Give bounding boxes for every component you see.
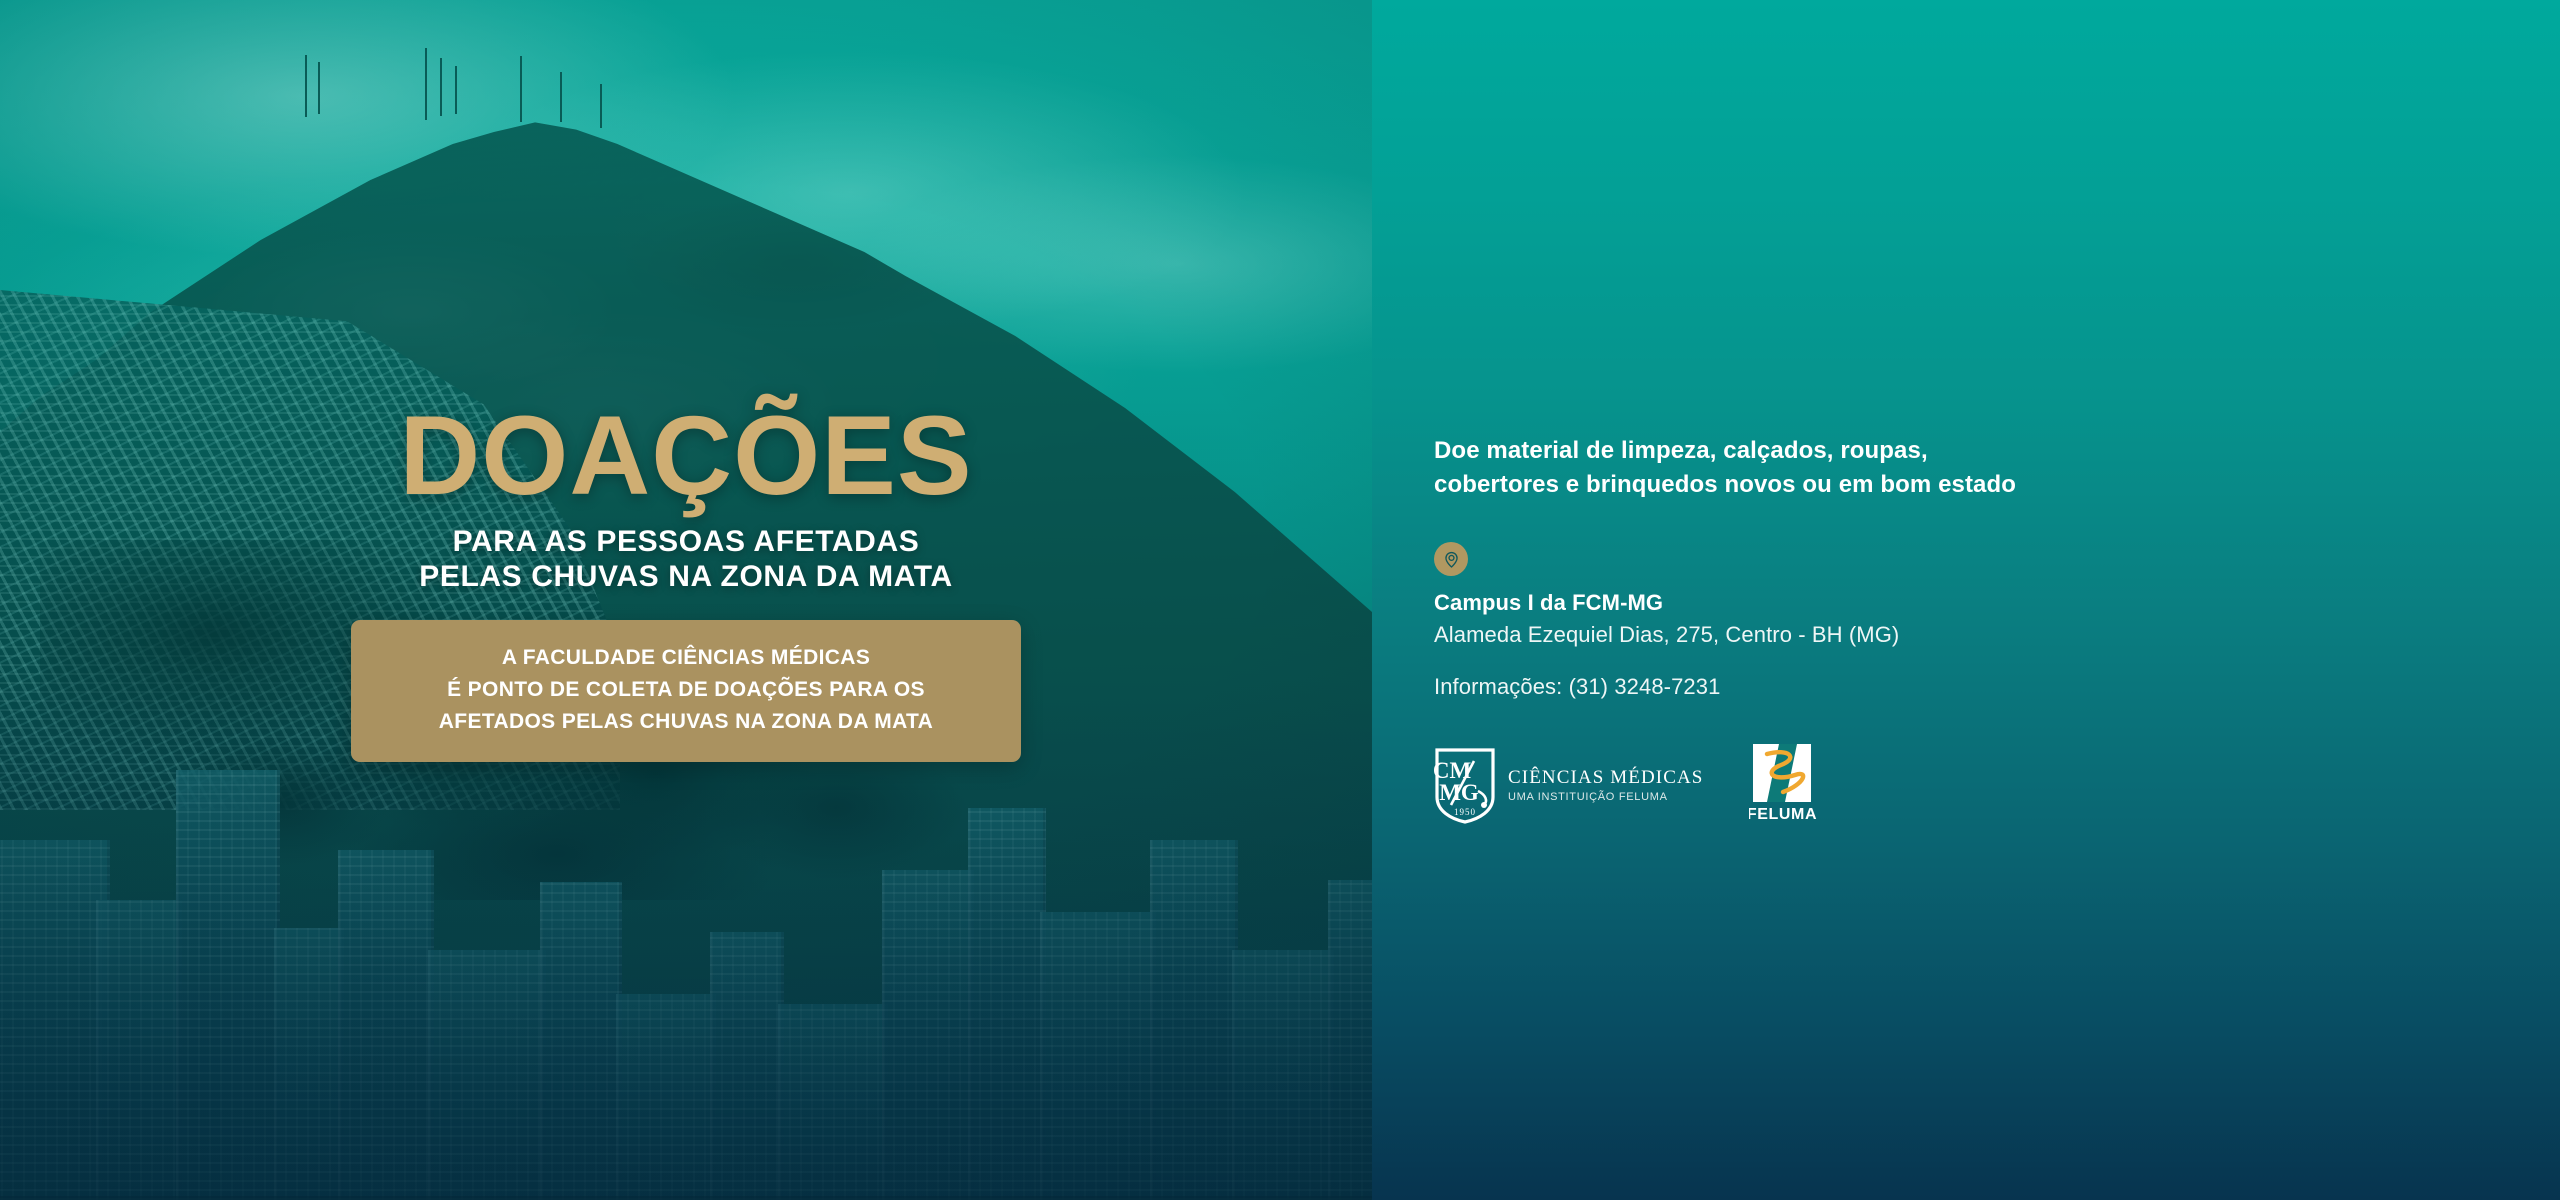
feluma-logo: FELUMA <box>1749 744 1823 827</box>
logo-row: CM MG 1950 CIÊNCIAS MÉDICAS UMA INSTITUI… <box>1434 744 2194 827</box>
cmmg-logo: CM MG 1950 CIÊNCIAS MÉDICAS UMA INSTITUI… <box>1434 747 1703 825</box>
cmmg-shield-icon: CM MG 1950 <box>1434 747 1496 825</box>
cmmg-title: CIÊNCIAS MÉDICAS <box>1508 768 1703 788</box>
callout-line-3: AFETADOS PELAS CHUVAS NA ZONA DA MATA <box>377 706 995 738</box>
cityscape-photo-panel: DOAÇÕES PARA AS PESSOAS AFETADAS PELAS C… <box>0 0 1372 1200</box>
feluma-mark-icon: FELUMA <box>1749 744 1823 822</box>
bottom-edge-strip <box>0 1196 1372 1200</box>
information-panel: Doe material de limpeza, calçados, roupa… <box>1372 0 2560 1200</box>
map-pin-icon <box>1434 542 1468 576</box>
collection-point-callout: A FACULDADE CIÊNCIAS MÉDICAS É PONTO DE … <box>351 620 1021 762</box>
donation-items-line-1: Doe material de limpeza, calçados, roupa… <box>1434 434 2194 468</box>
svg-text:1950: 1950 <box>1454 807 1476 817</box>
donation-items-text: Doe material de limpeza, calçados, roupa… <box>1434 434 2194 502</box>
callout-line-2: É PONTO DE COLETA DE DOAÇÕES PARA OS <box>377 674 995 706</box>
poster-subtitle-line-2: PELAS CHUVAS NA ZONA DA MATA <box>346 559 1026 594</box>
page-title: DOAÇÕES <box>40 402 1332 510</box>
poster-subtitle: PARA AS PESSOAS AFETADAS PELAS CHUVAS NA… <box>346 524 1026 595</box>
donation-items-line-2: cobertores e brinquedos novos ou em bom … <box>1434 468 2194 502</box>
donation-campaign-poster: DOAÇÕES PARA AS PESSOAS AFETADAS PELAS C… <box>0 0 2560 1200</box>
campus-name: Campus I da FCM-MG <box>1434 590 2194 616</box>
feluma-wordmark: FELUMA <box>1749 806 1817 822</box>
callout-line-1: A FACULDADE CIÊNCIAS MÉDICAS <box>377 642 995 674</box>
contact-phone: Informações: (31) 3248-7231 <box>1434 674 2194 700</box>
poster-copy-block: DOAÇÕES PARA AS PESSOAS AFETADAS PELAS C… <box>0 402 1372 762</box>
cmmg-subtitle: UMA INSTITUIÇÃO FELUMA <box>1508 792 1703 804</box>
poster-subtitle-line-1: PARA AS PESSOAS AFETADAS <box>346 524 1026 559</box>
svg-text:MG: MG <box>1439 780 1479 805</box>
information-content: Doe material de limpeza, calçados, roupa… <box>1434 434 2194 827</box>
campus-address: Alameda Ezequiel Dias, 275, Centro - BH … <box>1434 622 2194 648</box>
cmmg-wordmark: CIÊNCIAS MÉDICAS UMA INSTITUIÇÃO FELUMA <box>1508 768 1703 803</box>
